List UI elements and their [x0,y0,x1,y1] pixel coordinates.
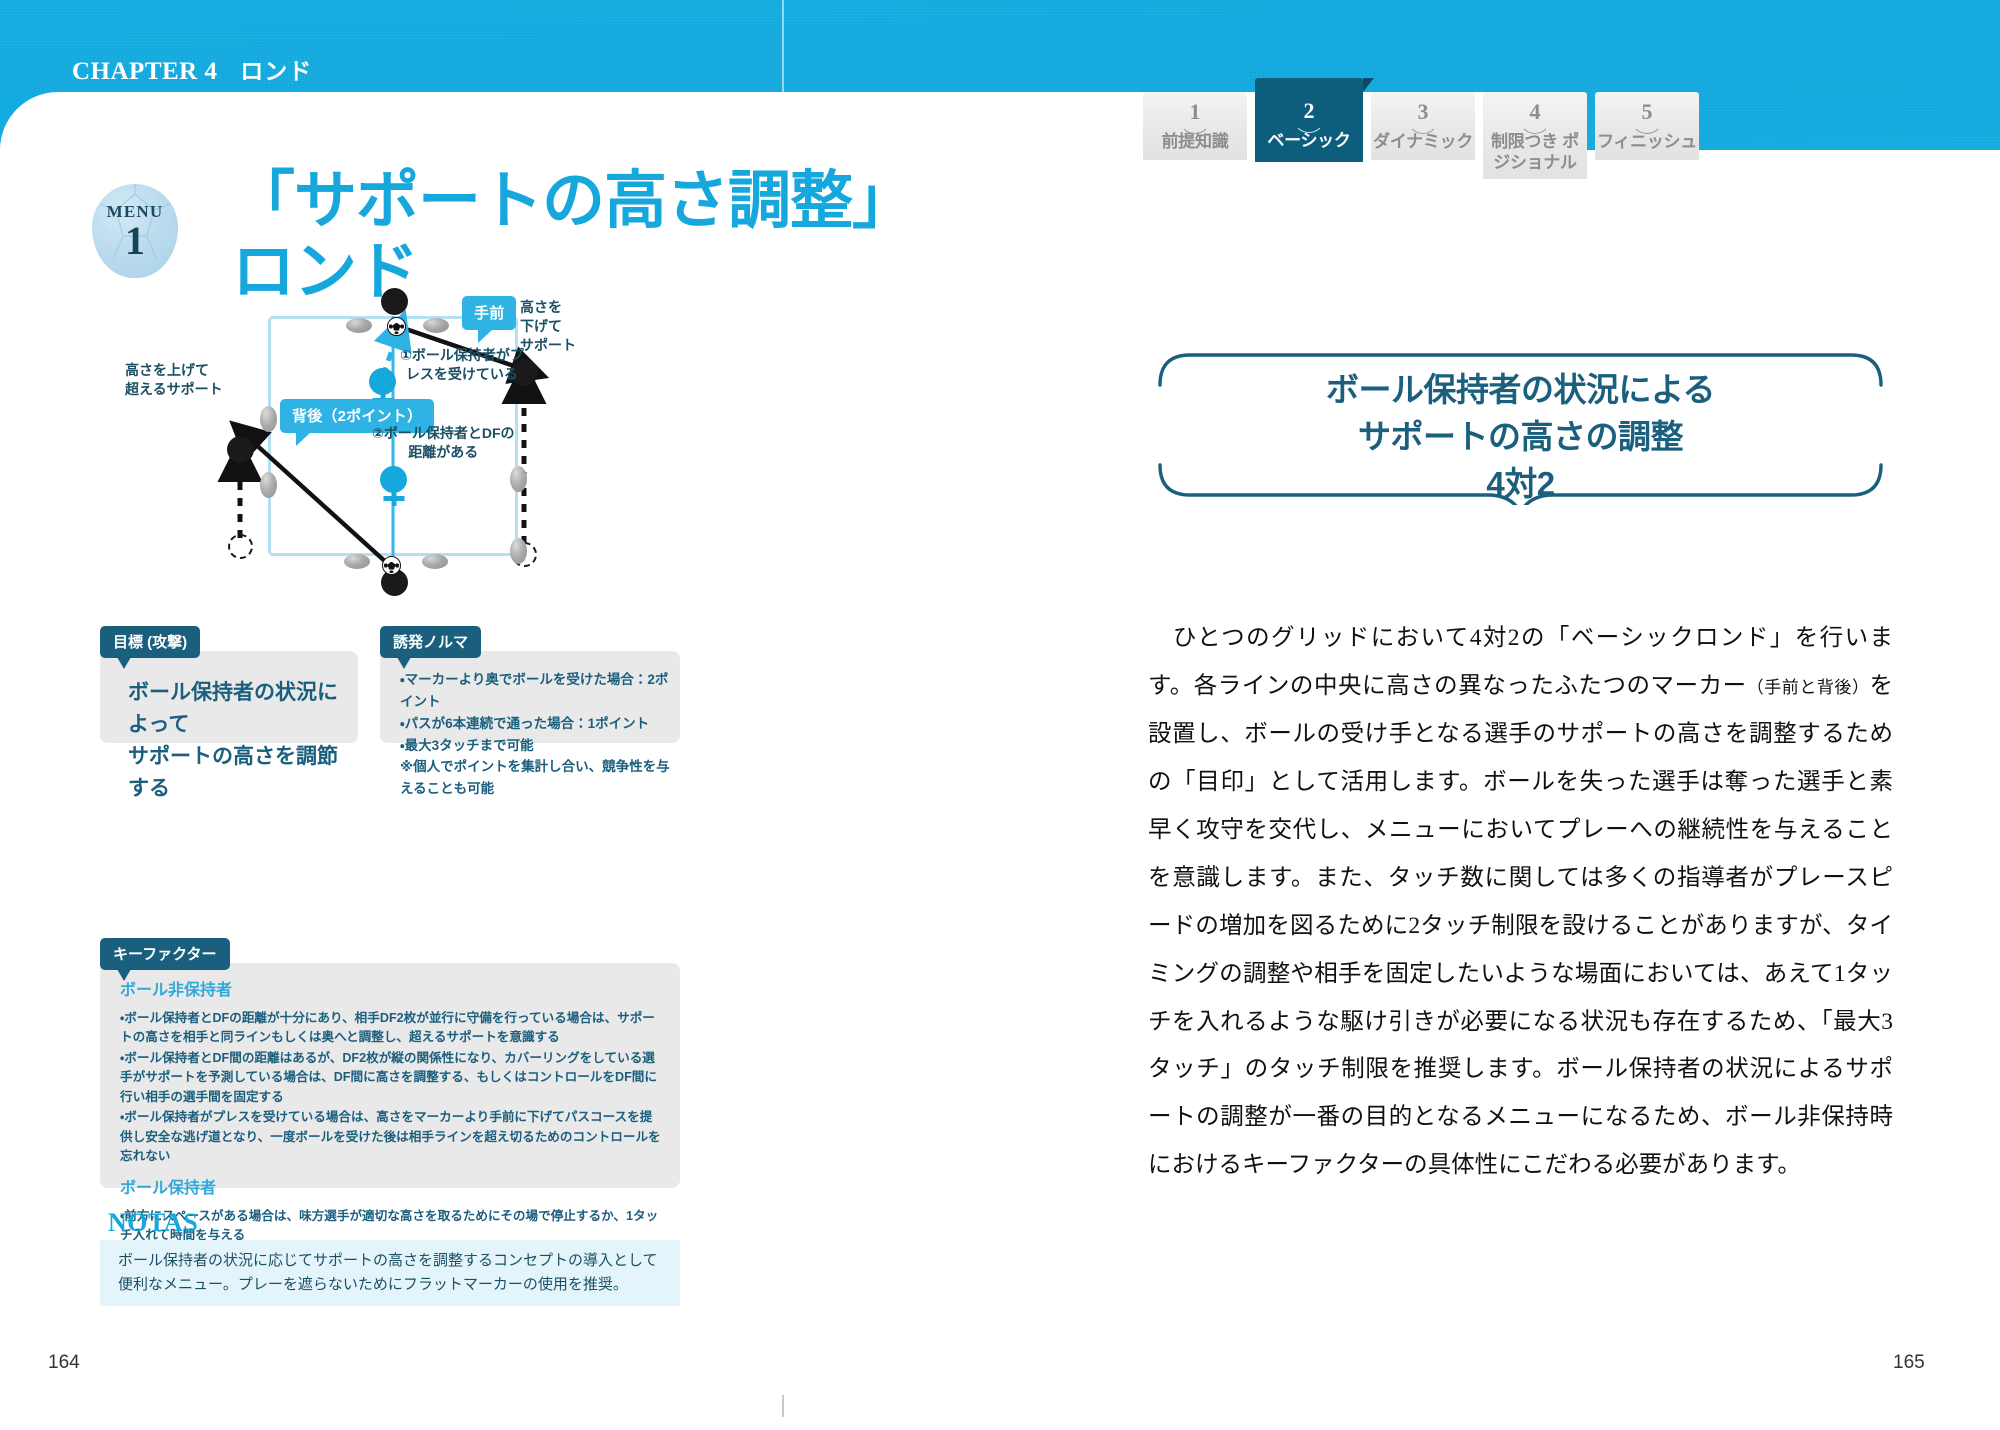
arc-decoration-icon [1631,106,1663,134]
norm-text: ・マーカーより奥でボールを受けた場合：2ポイント ・パスが6本連続で通った場合：… [400,669,680,800]
player-attacker-left [227,436,254,463]
player-ghost-left [228,534,253,559]
marker-top-left [346,318,372,333]
player-defender-lower [380,466,407,493]
tab-1-label: 前提知識 [1162,132,1229,153]
ball-top-icon [387,317,406,336]
arc-decoration-icon [1519,106,1551,134]
tab-3-number: 3 [1418,101,1429,123]
spine-mark-bottom [782,1395,784,1417]
tab-3-label: ダイナミック [1373,132,1473,153]
keyfactor-item: ・ボール保持者とDF間の距離はあるが、DF2枚が縦の関係性になり、カバーリングを… [120,1049,664,1108]
tab-step-4[interactable]: 4 制限つき ポジショナル [1483,92,1587,179]
tab-4-number: 4 [1530,101,1541,123]
tab-1-number: 1 [1190,101,1201,123]
ball-bottom-icon [382,556,401,575]
tactical-diagram: 手前 背後（2ポイント） 高さを 下げて サポート 高さを上げて 超えるサポート… [100,276,680,606]
body-small-note: （手前と背後） [1747,678,1870,697]
keyfactor-tag: キーファクター [100,938,230,970]
page-number-right: 165 [1893,1352,1925,1374]
bubble-front: 手前 [462,296,516,330]
chapter-number: 4 [204,58,217,85]
keyfactor-group-1-title: ボール非保持者 [120,979,664,1004]
menu-badge-number: 1 [125,223,145,260]
note-1-press: ①ボール保持者がプ レスを受けている [400,346,524,384]
objective-box: ボール保持者の状況によって サポートの高さを調節する [100,651,358,743]
label-raise-support: 高さを上げて 超えるサポート [125,361,223,399]
tab-step-1[interactable]: 1 前提知識 [1143,92,1247,160]
arc-decoration-icon [1293,105,1325,133]
tab-step-3[interactable]: 3 ダイナミック [1371,92,1475,160]
spine-mark-top [782,0,784,96]
tab-5-number: 5 [1642,101,1653,123]
marker-right-upper [510,466,527,492]
player-defender-upper [369,368,396,395]
arc-decoration-icon [1179,106,1211,134]
tab-step-2[interactable]: 2 ベーシック [1255,78,1363,162]
chapter-header: CHAPTER 4 ロンド [72,52,312,86]
body-part-2: を設置し、ボールの受け手となる選手のサポートの高さを調整するための「目印」として… [1148,673,1893,1178]
marker-right-lower [510,538,527,564]
chapter-label: CHAPTER [72,58,198,85]
keyfactor-item: ・ボール保持者がプレスを受けている場合は、高さをマーカーより手前に下げてパスコー… [120,1108,664,1167]
objective-tag: 目標 (攻撃) [100,626,200,658]
notas-box: ボール保持者の状況に応じてサポートの高さを調整するコンセプトの導入として便利なメ… [100,1240,680,1306]
tab-2-label: ベーシック [1267,131,1350,152]
marker-bottom-left [344,554,370,569]
label-lower-support: 高さを 下げて サポート [520,298,576,355]
notas-text: ボール保持者の状況に応じてサポートの高さを調整するコンセプトの導入として便利なメ… [118,1249,666,1298]
step-tabs: 1 前提知識 2 ベーシック 3 ダイナミック 4 制限つき ポジショナル 5 … [1143,92,1699,179]
keyfactor-box: ボール非保持者 ・ボール保持者とDFの距離が十分にあり、相手DF2枚が並行に守備… [100,963,680,1188]
tab-5-label: フィニッシュ [1597,132,1697,153]
tab-4-label: 制限つき ポジショナル [1485,132,1585,173]
keyfactor-item: ・ボール保持者とDFの距離が十分にあり、相手DF2枚が並行に守備を行っている場合… [120,1009,664,1048]
player-attacker-top [381,288,408,315]
tab-step-5[interactable]: 5 フィニッシュ [1595,92,1699,160]
notas-heading: NOTAS [108,1208,198,1238]
objective-text: ボール保持者の状況によって サポートの高さを調節する [128,677,358,805]
menu-badge: MENU 1 [92,184,178,278]
book-spread: CHAPTER 4 ロンド 1 前提知識 2 ベーシック 3 ダイナミック 4 … [0,0,2000,1430]
keyfactor-group-2-title: ボール保持者 [120,1177,664,1202]
arc-decoration-icon [1407,106,1439,134]
norm-tag: 誘発ノルマ [380,626,481,658]
page-number-left: 164 [48,1352,80,1374]
marker-left-upper [260,406,277,432]
note-2-distance: ②ボール保持者とDFの 距離がある [372,424,515,462]
marker-left-lower [260,472,277,498]
chapter-title: ロンド [240,58,312,84]
right-callout: ボール保持者の状況による サポートの高さの調整 4対2 [1148,345,1893,505]
callout-title: ボール保持者の状況による サポートの高さの調整 4対2 [1148,367,1893,508]
body-text: ひとつのグリッドにおいて4対2の「ベーシックロンド」を行います。各ラインの中央に… [1148,615,1893,1190]
marker-bottom-right [422,554,448,569]
norm-box: ・マーカーより奥でボールを受けた場合：2ポイント ・パスが6本連続で通った場合：… [380,651,680,743]
marker-top-right [423,318,449,333]
tab-2-number: 2 [1304,100,1315,122]
